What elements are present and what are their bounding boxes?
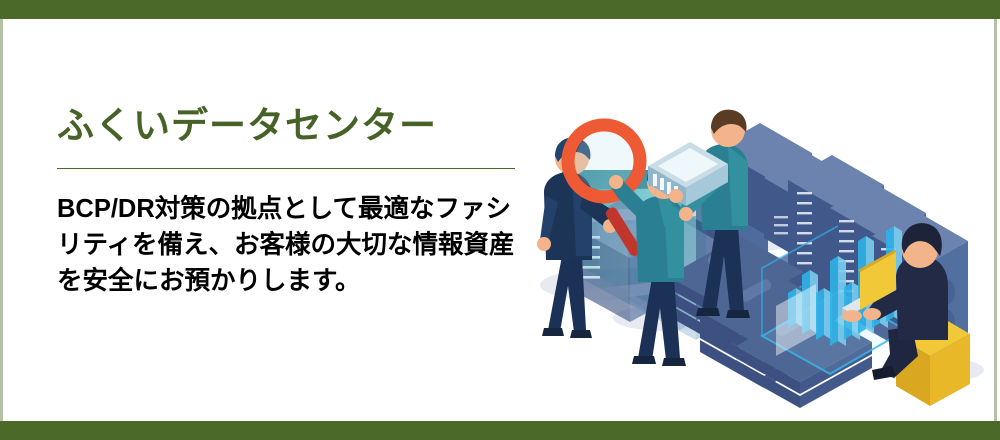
title-divider bbox=[57, 168, 515, 169]
hero-text-block: ふくいデータセンター BCP/DR対策の拠点として最適なファシリティを備え、お客… bbox=[57, 105, 527, 325]
hero-banner: ふくいデータセンター BCP/DR対策の拠点として最適なファシリティを備え、お客… bbox=[0, 0, 1000, 440]
left-edge-rule bbox=[0, 19, 3, 421]
hero-description: BCP/DR対策の拠点として最適なファシリティを備え、お客様の大切な情報資産を安… bbox=[57, 191, 519, 300]
bottom-accent-bar bbox=[0, 421, 1000, 440]
top-accent-bar bbox=[0, 0, 1000, 19]
page-title: ふくいデータセンター bbox=[57, 105, 527, 148]
data-center-illustration bbox=[500, 40, 1000, 420]
